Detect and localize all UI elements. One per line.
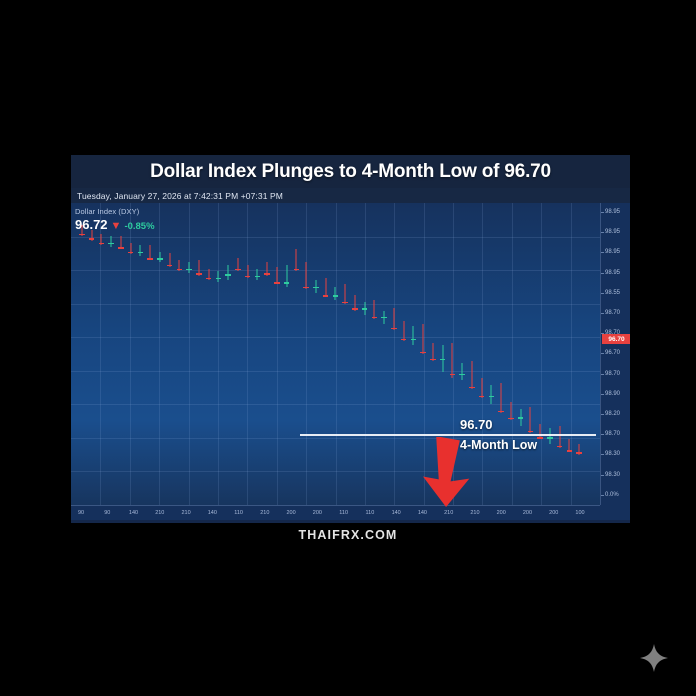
candle-body (323, 295, 328, 296)
candle-body (303, 287, 308, 288)
candle-body (186, 269, 191, 270)
price-axis[interactable]: 96.70 98.9598.9598.9598.9598.5598.7098.7… (600, 203, 630, 505)
candle-body (196, 273, 201, 274)
gridline-vertical (277, 203, 278, 505)
candle-body (206, 278, 211, 279)
candle-body (177, 269, 182, 270)
time-axis-tick: 210 (470, 510, 479, 516)
candlestick (118, 236, 123, 249)
candle-body (459, 374, 464, 375)
candlestick (79, 225, 84, 236)
candlestick (108, 236, 113, 247)
candle-body (216, 278, 221, 279)
candle-body (99, 243, 104, 244)
screenshot-root: Dollar Index Plunges to 4-Month Low of 9… (0, 0, 696, 696)
candlestick (255, 269, 260, 280)
candlestick (313, 280, 318, 293)
candle-body (167, 265, 172, 266)
candlestick (128, 243, 133, 254)
candle-body (518, 417, 523, 418)
candlestick (89, 230, 94, 241)
candle-wick (549, 428, 550, 443)
watermark-text: THAIFRX.COM (0, 528, 696, 542)
gridline-horizontal (71, 304, 600, 305)
candle-body (469, 387, 474, 388)
price-axis-tick: 98.90 (601, 391, 630, 397)
candle-body (528, 431, 533, 432)
price-axis-tick: 98.30 (601, 451, 630, 457)
candle-body (420, 352, 425, 353)
gridline-horizontal (71, 270, 600, 271)
candlestick (157, 252, 162, 263)
candle-wick (218, 271, 219, 282)
candle-body (108, 243, 113, 244)
sparkle-icon (640, 644, 668, 672)
candlestick (401, 321, 406, 341)
candlestick (576, 444, 581, 455)
candle-body (381, 317, 386, 318)
candle-body (391, 328, 396, 329)
price-axis-tick: 98.70 (601, 431, 630, 437)
candlestick (381, 311, 386, 324)
candle-wick (306, 262, 307, 288)
candle-wick (159, 252, 160, 263)
candle-wick (462, 363, 463, 380)
time-axis-tick: 140 (129, 510, 138, 516)
time-axis-tick: 140 (208, 510, 217, 516)
candlestick (245, 265, 250, 278)
candle-body (264, 273, 269, 274)
candle-body (274, 282, 279, 283)
candlestick (177, 260, 182, 271)
time-axis-tick: 110 (339, 510, 348, 516)
time-axis-tick: 90 (78, 510, 84, 516)
candlestick (537, 424, 542, 439)
gridline-vertical (512, 203, 513, 505)
time-axis-tick: 140 (418, 510, 427, 516)
candlestick (372, 300, 377, 320)
candle-body (294, 269, 299, 270)
gridline-horizontal (71, 337, 600, 338)
candle-body (157, 258, 162, 259)
legend-symbol: Dollar Index (DXY) (75, 207, 155, 216)
candlestick (557, 426, 562, 448)
page-title: Dollar Index Plunges to 4-Month Low of 9… (150, 161, 551, 183)
price-axis-tick: 98.95 (601, 249, 630, 255)
gridline-vertical (100, 203, 101, 505)
candle-body (313, 287, 318, 288)
candle-wick (393, 308, 394, 330)
candlestick (147, 245, 152, 260)
legend-quote-row: 96.72 ▼ -0.85% (75, 217, 155, 232)
time-axis-tick: 110 (366, 510, 375, 516)
gridline-horizontal (71, 471, 600, 472)
candlestick (99, 234, 104, 245)
candle-body (245, 276, 250, 277)
time-axis-tick: 200 (549, 510, 558, 516)
price-axis-tick: 98.55 (601, 290, 630, 296)
candle-body (128, 252, 133, 253)
candle-body (147, 258, 152, 259)
price-axis-tick: 98.20 (601, 411, 630, 417)
candlestick (489, 385, 494, 405)
price-axis-tick: 98.70 (601, 330, 630, 336)
support-price-label: 96.70 (460, 417, 493, 432)
candle-wick (189, 262, 190, 273)
candlestick (235, 258, 240, 271)
chart-card: Dollar Index Plunges to 4-Month Low of 9… (71, 155, 630, 523)
time-axis-tick: 210 (181, 510, 190, 516)
candlestick (206, 269, 211, 280)
candlestick (167, 253, 172, 267)
candlestick (391, 308, 396, 330)
gridline-vertical (218, 203, 219, 505)
candlestick (518, 409, 523, 426)
candle-body (576, 452, 581, 453)
candlestick (303, 262, 308, 288)
candle-body (372, 317, 377, 318)
candle-body (557, 446, 562, 447)
candle-body (508, 418, 513, 419)
price-axis-tick: 98.30 (601, 472, 630, 478)
time-axis-tick: 210 (260, 510, 269, 516)
candle-wick (559, 426, 560, 448)
candlestick (342, 284, 347, 304)
price-axis-tick: 98.95 (601, 229, 630, 235)
candle-body (342, 302, 347, 303)
candlestick (420, 324, 425, 355)
gridline-vertical (189, 203, 190, 505)
candlestick (274, 267, 279, 284)
candle-wick (140, 245, 141, 256)
chart-date-bar: Tuesday, January 27, 2026 at 7:42:31 PM … (71, 188, 630, 203)
gridline-horizontal (71, 371, 600, 372)
candle-body (411, 339, 416, 340)
candle-body (333, 295, 338, 296)
candle-body (479, 396, 484, 397)
candlestick (294, 249, 299, 271)
time-axis-tick: 140 (392, 510, 401, 516)
candle-wick (257, 269, 258, 280)
candlestick (216, 271, 221, 282)
chart-plot-area[interactable]: Dollar Index (DXY) 96.72 ▼ -0.85% (71, 203, 600, 505)
candle-wick (530, 407, 531, 433)
axis-corner (600, 505, 630, 520)
gridline-vertical (247, 203, 248, 505)
candle-body (450, 374, 455, 375)
candle-wick (491, 385, 492, 405)
support-level-line (300, 434, 596, 436)
candle-wick (228, 265, 229, 280)
chart-title-bar: Dollar Index Plunges to 4-Month Low of 9… (71, 155, 630, 188)
price-axis-tick: 96.70 (601, 350, 630, 356)
candlestick (459, 363, 464, 380)
price-axis-tick: 98.95 (601, 270, 630, 276)
time-axis-tick: 200 (497, 510, 506, 516)
candle-body (440, 359, 445, 360)
candle-wick (111, 236, 112, 247)
time-axis-tick: 90 (104, 510, 110, 516)
time-axis-tick: 110 (234, 510, 243, 516)
gridline-vertical (306, 203, 307, 505)
candlestick (284, 265, 289, 287)
candlestick (411, 326, 416, 346)
candlestick (186, 262, 191, 273)
candle-body (225, 274, 230, 275)
candle-body (498, 411, 503, 412)
candle-body (567, 450, 572, 451)
gridline-horizontal (71, 404, 600, 405)
candle-body (430, 359, 435, 360)
gridline-vertical (541, 203, 542, 505)
chart-legend: Dollar Index (DXY) 96.72 ▼ -0.85% (75, 207, 155, 232)
candlestick (138, 245, 143, 256)
time-axis-tick: 100 (575, 510, 584, 516)
gridline-vertical (571, 203, 572, 505)
candle-wick (471, 361, 472, 389)
timestamp-text: Tuesday, January 27, 2026 at 7:42:31 PM … (71, 191, 283, 201)
gridline-horizontal (71, 237, 600, 238)
candle-body (489, 396, 494, 397)
candle-body (401, 339, 406, 340)
candlestick (528, 407, 533, 433)
price-axis-tick: 98.70 (601, 310, 630, 316)
candlestick (498, 383, 503, 414)
candle-wick (413, 326, 414, 346)
candle-body (362, 308, 367, 309)
down-arrow-icon: ▼ (111, 221, 122, 232)
candlestick (323, 278, 328, 298)
time-axis-tick: 210 (155, 510, 164, 516)
time-axis[interactable]: 9090140210210140110210200200110110140140… (71, 505, 600, 520)
candle-body (547, 437, 552, 438)
candlestick (362, 302, 367, 315)
candlestick (264, 262, 269, 275)
candle-body (537, 437, 542, 438)
candlestick (547, 428, 552, 443)
time-axis-tick: 200 (523, 510, 532, 516)
gridline-vertical (365, 203, 366, 505)
legend-change-pct: -0.85% (124, 221, 154, 232)
red-down-arrow-icon (418, 437, 480, 509)
candlestick (508, 402, 513, 419)
candle-body (352, 308, 357, 309)
time-axis-tick: 210 (444, 510, 453, 516)
candle-body (118, 247, 123, 248)
candle-body (79, 234, 84, 235)
candlestick (567, 439, 572, 452)
candle-body (235, 269, 240, 270)
candlestick (352, 295, 357, 310)
candlestick (440, 345, 445, 371)
candle-body (284, 282, 289, 283)
candlestick (225, 265, 230, 280)
candlestick (469, 361, 474, 389)
candle-body (89, 238, 94, 239)
candlestick (333, 287, 338, 300)
gridline-vertical (482, 203, 483, 505)
candlestick (430, 343, 435, 360)
candlestick (479, 378, 484, 398)
price-axis-tick: 98.95 (601, 209, 630, 215)
candle-body (255, 276, 260, 277)
candlestick (196, 260, 201, 275)
candle-wick (296, 249, 297, 271)
candle-body (138, 252, 143, 253)
candlestick (450, 343, 455, 378)
time-axis-tick: 200 (287, 510, 296, 516)
gridline-vertical (394, 203, 395, 505)
gridline-vertical (159, 203, 160, 505)
price-axis-tick: 98.70 (601, 371, 630, 377)
time-axis-tick: 200 (313, 510, 322, 516)
price-axis-tick: 0.0% (601, 492, 630, 498)
candle-wick (501, 383, 502, 414)
candle-wick (423, 324, 424, 355)
gridline-vertical (336, 203, 337, 505)
candle-wick (335, 287, 336, 300)
